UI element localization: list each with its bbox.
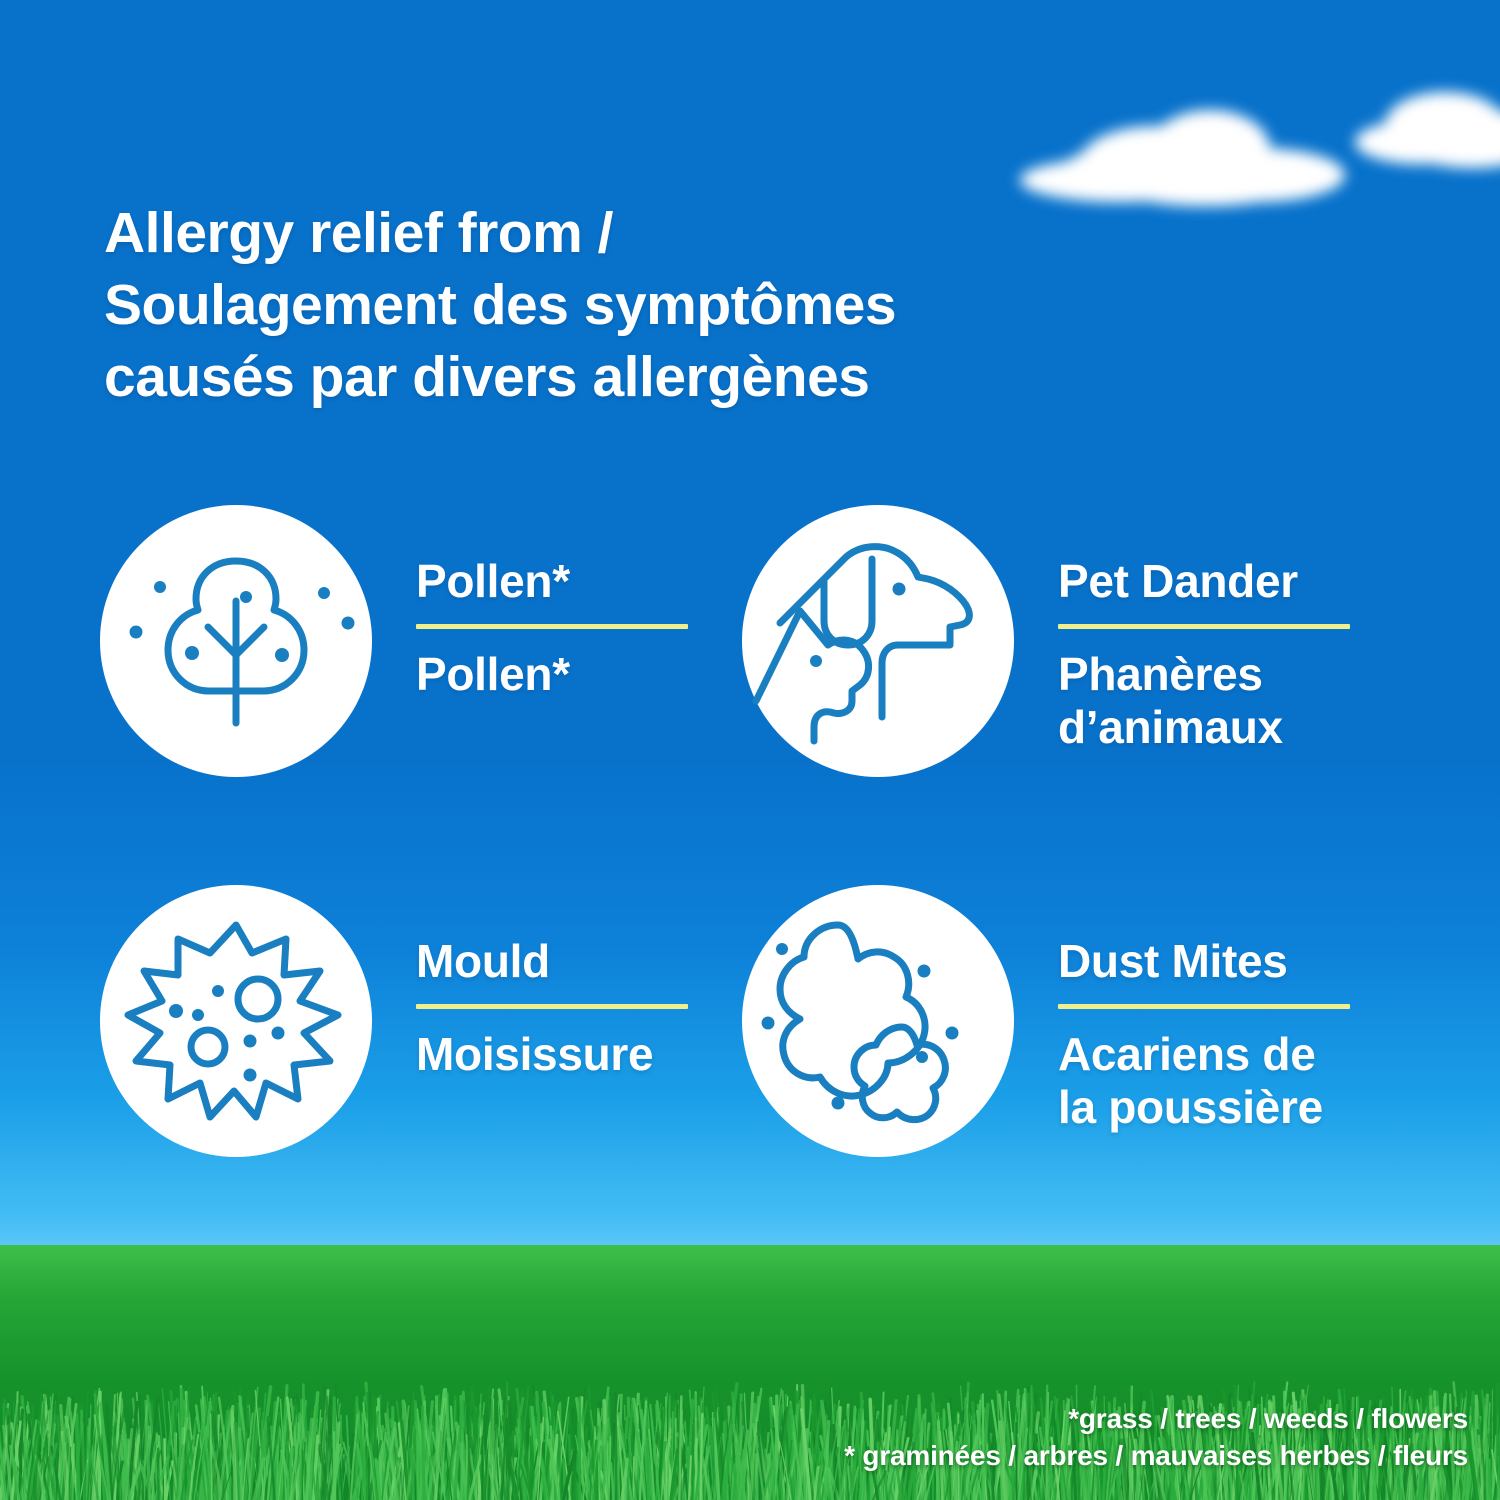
footnote-line-en: *grass / trees / weeds / flowers (844, 1400, 1468, 1437)
allergen-row-2: Mould Moisissure (0, 885, 1500, 1265)
label-divider (416, 1004, 688, 1009)
label-divider (1058, 1004, 1350, 1009)
label-divider (416, 624, 688, 629)
allergen-labels-pollen: Pollen* Pollen* (416, 505, 716, 701)
footnote-line-fr: * graminées / arbres / mauvaises herbes … (844, 1437, 1468, 1474)
dust-mite-clump-icon (742, 885, 1014, 1157)
page-title: Allergy relief from / Soulagement des sy… (104, 198, 1164, 413)
label-divider (1058, 624, 1350, 629)
allergen-labels-dust-mites: Dust Mites Acariens de la poussière (1058, 885, 1388, 1133)
headline-line-3: causés par divers allergènes (104, 342, 1164, 414)
allergen-label-fr-line2: la poussière (1058, 1081, 1388, 1133)
allergen-label-fr: Pollen* (416, 648, 716, 700)
footnote: *grass / trees / weeds / flowers * grami… (844, 1400, 1468, 1474)
dog-cat-pet-dander-icon (742, 505, 1014, 777)
allergen-label-en: Pet Dander (1058, 555, 1388, 607)
allergen-grid: Pollen* Pollen* (0, 505, 1500, 1265)
headline-line-2: Soulagement des symptômes (104, 270, 1164, 342)
allergen-card-dust-mites: Dust Mites Acariens de la poussière (742, 885, 1388, 1157)
allergen-labels-pet-dander: Pet Dander Phanères d’animaux (1058, 505, 1388, 753)
tree-pollen-icon (100, 505, 372, 777)
allergen-label-en: Dust Mites (1058, 935, 1388, 987)
allergen-label-en: Mould (416, 935, 716, 987)
allergen-labels-mould: Mould Moisissure (416, 885, 716, 1081)
allergen-label-en: Pollen* (416, 555, 716, 607)
mould-spore-icon (100, 885, 372, 1157)
allergen-row-1: Pollen* Pollen* (0, 505, 1500, 885)
headline-line-1: Allergy relief from / (104, 198, 1164, 270)
allergen-label-fr-line2: d’animaux (1058, 701, 1388, 753)
allergen-label-fr: Moisissure (416, 1028, 716, 1080)
allergen-label-fr-line1: Phanères (1058, 648, 1388, 700)
allergen-card-mould: Mould Moisissure (100, 885, 716, 1157)
allergen-card-pollen: Pollen* Pollen* (100, 505, 716, 777)
allergen-label-fr-line1: Acariens de (1058, 1028, 1388, 1080)
allergen-card-pet-dander: Pet Dander Phanères d’animaux (742, 505, 1388, 777)
